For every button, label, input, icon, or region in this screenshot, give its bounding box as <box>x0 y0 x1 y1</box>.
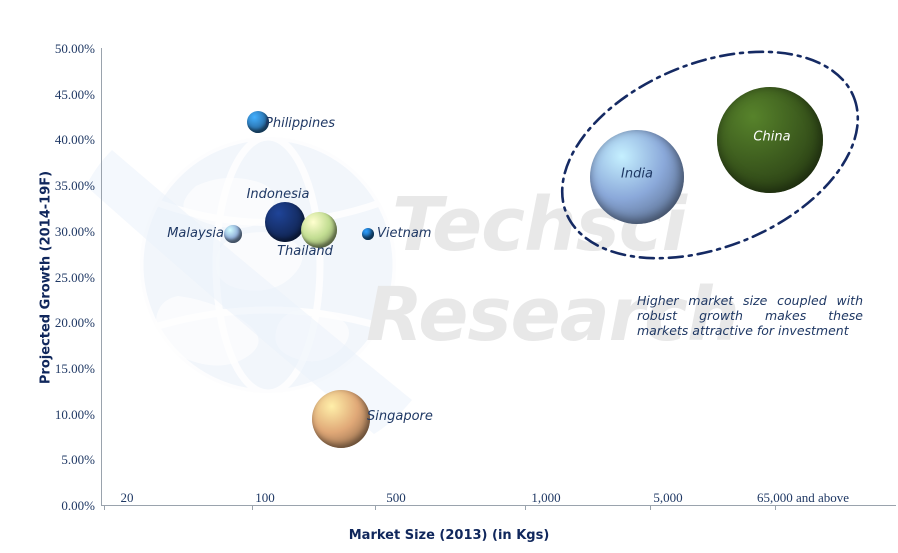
bubble-label-philippines: Philippines <box>265 116 335 131</box>
y-axis-line <box>101 48 102 505</box>
bubble-label-malaysia: Malaysia <box>167 226 224 241</box>
bubble-vietnam[interactable] <box>362 228 374 240</box>
y-tick-label: 50.00% <box>9 41 95 57</box>
bubble-label-thailand: Thailand <box>277 244 333 259</box>
bubble-thailand[interactable] <box>301 212 337 248</box>
x-tick-label: 65,000 and above <box>757 490 849 506</box>
annotation-text: Higher market size coupled with robust g… <box>637 293 863 338</box>
y-tick-label: 45.00% <box>9 87 95 103</box>
x-axis-tick <box>104 506 105 510</box>
bubble-singapore[interactable] <box>312 390 370 448</box>
y-tick-label: 0.00% <box>9 498 95 514</box>
x-tick-label: 500 <box>386 490 406 506</box>
x-axis-tick <box>252 506 253 510</box>
bubble-label-singapore: Singapore <box>367 409 433 424</box>
x-tick-label: 1,000 <box>531 490 560 506</box>
x-axis-tick <box>650 506 651 510</box>
x-axis-title: Market Size (2013) (in Kgs) <box>0 528 898 543</box>
y-tick-label: 5.00% <box>9 452 95 468</box>
highlight-ellipse <box>540 18 880 293</box>
x-tick-label: 5,000 <box>653 490 682 506</box>
bubble-chart: Techsci Research 0.00%5.00%10.00%15.00%2… <box>0 0 898 553</box>
x-tick-label: 100 <box>255 490 275 506</box>
x-axis-tick <box>375 506 376 510</box>
globe-watermark-icon <box>0 0 898 553</box>
watermark: Techsci Research <box>0 0 898 553</box>
bubble-label-india: India <box>621 167 653 182</box>
bubble-malaysia[interactable] <box>224 225 242 243</box>
x-tick-label: 20 <box>121 490 134 506</box>
y-axis-title: Projected Growth (2014-19F) <box>39 128 54 428</box>
x-axis-tick <box>775 506 776 510</box>
bubble-label-vietnam: Vietnam <box>377 226 431 241</box>
bubble-label-indonesia: Indonesia <box>247 187 310 202</box>
x-axis-tick <box>525 506 526 510</box>
bubble-indonesia[interactable] <box>265 202 305 242</box>
bubble-label-china: China <box>753 130 790 145</box>
